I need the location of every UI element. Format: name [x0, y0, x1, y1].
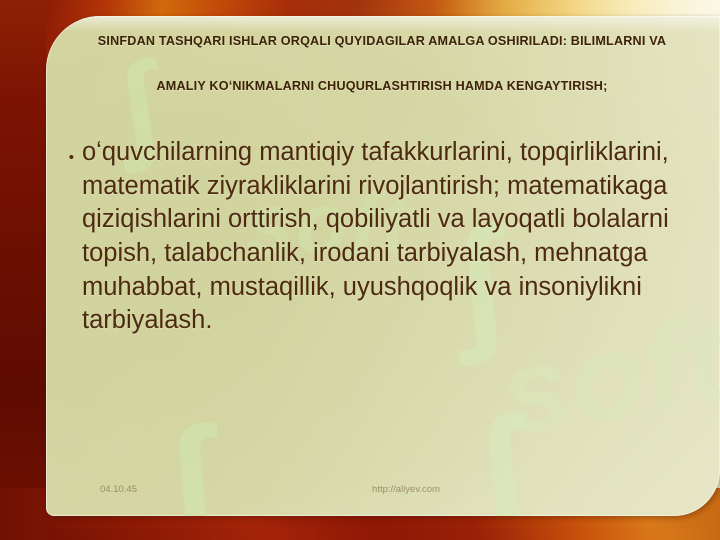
slide-footer: 04.10.45 http://aliyev.com	[92, 474, 720, 492]
bullet-marker-icon: •	[46, 136, 82, 165]
watermark-logo-icon-bottom-right: ʃ	[470, 394, 533, 516]
slide-body: • oʻquvchilarning mantiqiy tafakkurlarin…	[46, 136, 706, 338]
footer-clip-overlay	[46, 529, 720, 540]
footer-url: http://aliyev.com	[92, 484, 720, 495]
presentation-slide: ʃ soft ʃ soft ʃ ʃ SINFDAN TASHQARI ISHLA…	[0, 0, 720, 540]
slide-background-left-band	[0, 0, 46, 540]
watermark-logo-icon-bottom: ʃ	[160, 404, 223, 516]
panel-top-highlight	[46, 16, 720, 32]
slide-content-panel: ʃ soft ʃ soft ʃ ʃ SINFDAN TASHQARI ISHLA…	[46, 16, 720, 516]
slide-title-line-1: SINFDAN TASHQARI ISHLAR ORQALI QUYIDAGIL…	[64, 34, 700, 50]
slide-title-line-2: AMALIY KOʻNIKMALARNI CHUQURLASHTIRISH HA…	[64, 79, 700, 95]
slide-title: SINFDAN TASHQARI ISHLAR ORQALI QUYIDAGIL…	[64, 34, 700, 94]
bullet-list-item: • oʻquvchilarning mantiqiy tafakkurlarin…	[46, 136, 706, 338]
bullet-text: oʻquvchilarning mantiqiy tafakkurlarini,…	[82, 136, 706, 338]
